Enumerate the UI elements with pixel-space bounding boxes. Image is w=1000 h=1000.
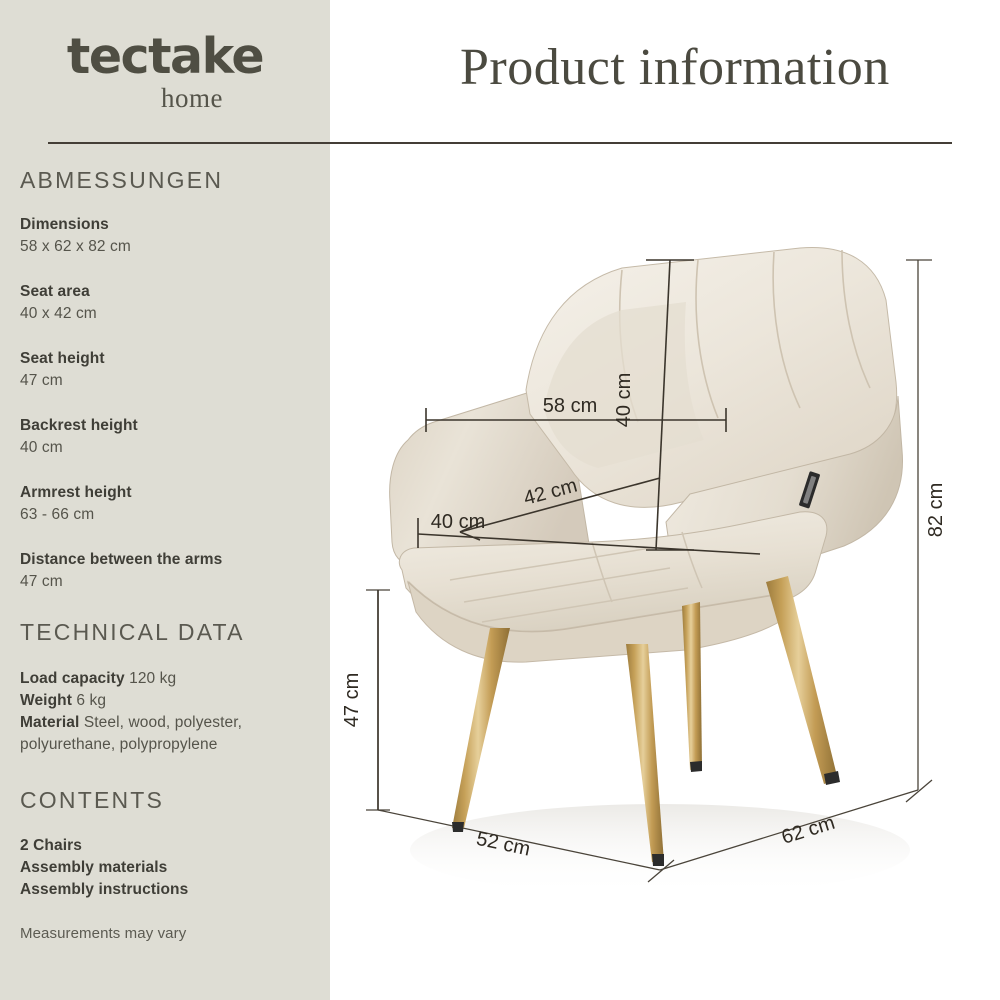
spec-distance-between-arms: Distance between the arms 47 cm bbox=[20, 549, 320, 593]
tech-label: Weight bbox=[20, 692, 72, 709]
label-backrest-height: 40 cm bbox=[613, 373, 635, 427]
spec-value: 63 - 66 cm bbox=[20, 504, 320, 526]
spec-armrest-height: Armrest height 63 - 66 cm bbox=[20, 482, 320, 526]
tech-value: 6 kg bbox=[76, 692, 106, 709]
tech-weight: Weight 6 kg bbox=[20, 690, 320, 712]
header-divider bbox=[48, 142, 952, 144]
label-overall-height: 82 cm bbox=[925, 483, 947, 537]
measurements-disclaimer: Measurements may vary bbox=[20, 925, 186, 942]
spec-seat-area: Seat area 40 x 42 cm bbox=[20, 281, 320, 325]
contents-item: 2 Chairs bbox=[20, 835, 320, 857]
leg-cap-icon bbox=[452, 822, 464, 832]
chair-leg-front-right bbox=[766, 576, 838, 784]
spec-dimensions: Dimensions 58 x 62 x 82 cm bbox=[20, 214, 320, 258]
spec-value: 40 cm bbox=[20, 437, 320, 459]
page-title: Product information bbox=[460, 38, 890, 97]
brand-logo: tectake home bbox=[0, 32, 330, 112]
product-diagram: 40 cm 58 cm 42 cm 40 cm 47 cm 52 cm 62 c… bbox=[330, 150, 1000, 1000]
spec-label: Backrest height bbox=[20, 415, 320, 437]
spec-seat-height: Seat height 47 cm bbox=[20, 348, 320, 392]
leg-cap-icon bbox=[690, 761, 702, 772]
tech-label: Load capacity bbox=[20, 670, 125, 687]
label-seat-width: 40 cm bbox=[431, 511, 485, 533]
brand-wordmark: tectake bbox=[0, 32, 330, 81]
tech-material: Material Steel, wood, polyester, bbox=[20, 712, 320, 734]
tech-material-continued: polyurethane, polypropylene bbox=[20, 734, 320, 756]
tech-load-capacity: Load capacity 120 kg bbox=[20, 668, 320, 690]
spec-value: 47 cm bbox=[20, 571, 320, 593]
spec-value: 40 x 42 cm bbox=[20, 303, 320, 325]
chair-leg-rear-left bbox=[452, 628, 510, 828]
section-heading-contents: CONTENTS bbox=[20, 787, 164, 814]
tech-value: Steel, wood, polyester, bbox=[84, 714, 242, 731]
tech-value: polyurethane, polypropylene bbox=[20, 736, 217, 753]
tech-value: 120 kg bbox=[129, 670, 176, 687]
spec-label: Seat area bbox=[20, 281, 320, 303]
leg-cap-icon bbox=[652, 854, 664, 866]
label-overall-width: 58 cm bbox=[543, 395, 597, 417]
contents-item: Assembly materials bbox=[20, 857, 320, 879]
spec-label: Distance between the arms bbox=[20, 549, 320, 571]
spec-value: 58 x 62 x 82 cm bbox=[20, 236, 320, 258]
brand-subtitle: home bbox=[54, 85, 330, 112]
spec-label: Seat height bbox=[20, 348, 320, 370]
spec-value: 47 cm bbox=[20, 370, 320, 392]
section-heading-technical-data: TECHNICAL DATA bbox=[20, 619, 245, 646]
section-heading-dimensions: ABMESSUNGEN bbox=[20, 167, 223, 194]
spec-label: Armrest height bbox=[20, 482, 320, 504]
label-seat-height: 47 cm bbox=[341, 673, 363, 727]
chair-illustration bbox=[390, 247, 903, 866]
spec-backrest-height: Backrest height 40 cm bbox=[20, 415, 320, 459]
contents-item: Assembly instructions bbox=[20, 879, 320, 901]
chair-leg-rear-right bbox=[682, 602, 702, 770]
sidebar: tectake home ABMESSUNGEN Dimensions 58 x… bbox=[0, 0, 330, 1000]
spec-label: Dimensions bbox=[20, 214, 320, 236]
tech-label: Material bbox=[20, 714, 79, 731]
